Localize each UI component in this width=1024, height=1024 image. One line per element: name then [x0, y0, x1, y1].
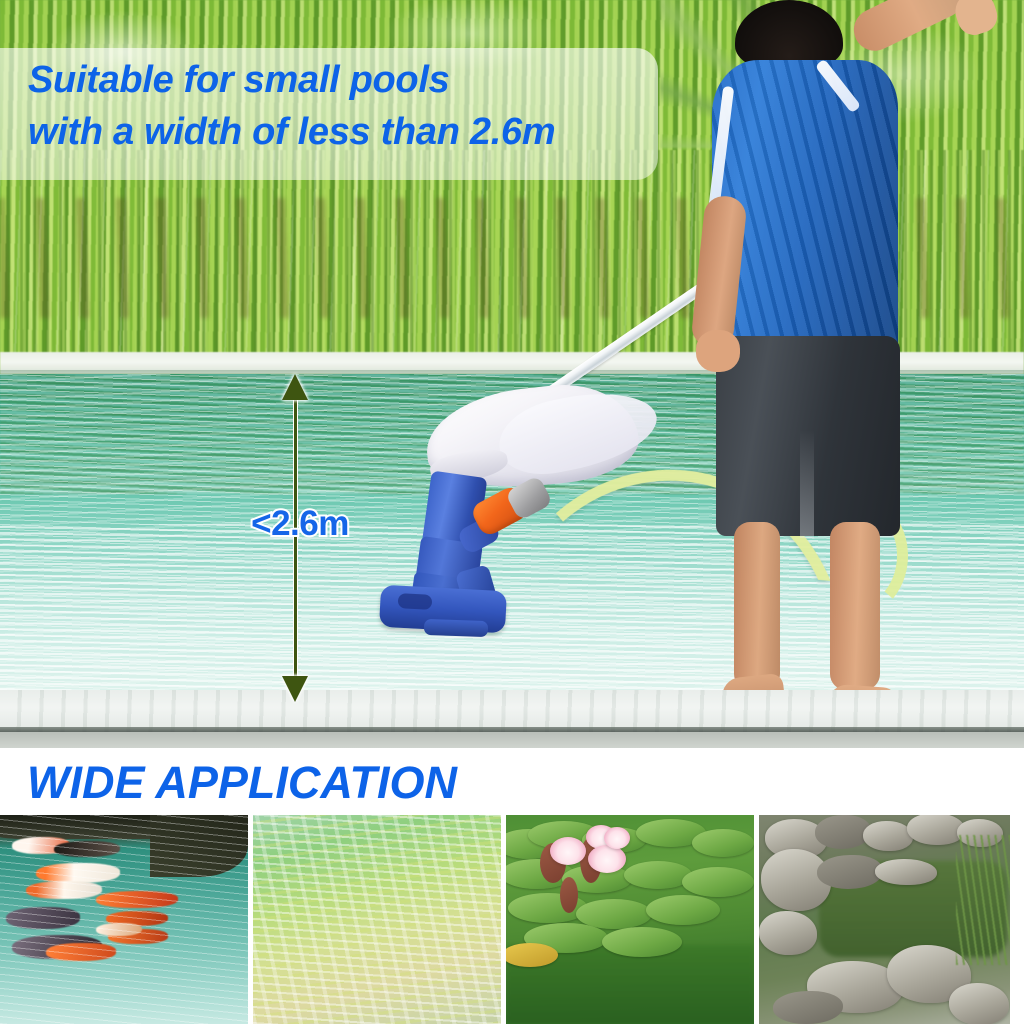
reddish-pad — [560, 877, 578, 913]
lily-pad — [646, 895, 720, 925]
gallery-item-rocky-pond[interactable] — [759, 815, 1010, 1024]
application-gallery — [0, 815, 1024, 1024]
product-marketing-image: <2.6m Suitable for small pools with a wi… — [0, 0, 1024, 1024]
hero-photo: <2.6m Suitable for small pools with a wi… — [0, 0, 1024, 748]
raised-arm — [847, 0, 971, 58]
person-using-product — [660, 0, 960, 748]
water-lily-flower — [550, 837, 586, 865]
stone — [773, 991, 843, 1024]
headline-text: Suitable for small pools with a width of… — [28, 54, 688, 159]
section-title: WIDE APPLICATION — [27, 757, 457, 809]
vacuum-base-slot — [398, 593, 433, 610]
pond-grass — [956, 835, 1010, 965]
stone — [863, 821, 913, 851]
vacuum-base-foot — [424, 619, 489, 637]
width-measurement-annotation: <2.6m — [268, 374, 324, 704]
lower-hand — [696, 330, 740, 372]
water-lily-flower — [588, 845, 626, 873]
pool-vacuum-product — [378, 382, 668, 642]
measurement-label: <2.6m — [240, 498, 360, 550]
right-leg — [830, 522, 880, 690]
stone — [759, 911, 817, 955]
measure-arrow-up-icon — [282, 374, 308, 400]
lily-pad — [692, 829, 754, 857]
measure-arrow-down-icon — [282, 676, 308, 702]
gallery-item-shallow-water[interactable] — [253, 815, 501, 1024]
left-leg — [734, 522, 780, 690]
gallery-item-lily-pond[interactable] — [506, 815, 754, 1024]
lily-pad — [602, 927, 682, 957]
stone — [875, 859, 937, 885]
water-lily-flower — [604, 827, 630, 849]
water-glint-overlay — [253, 815, 501, 1024]
water-ripple-overlay — [0, 815, 248, 1024]
stone — [949, 983, 1009, 1024]
lily-pad — [682, 867, 754, 897]
deck-lower-band — [0, 732, 1024, 748]
gallery-item-koi-pond[interactable] — [0, 815, 248, 1024]
shorts-split — [800, 430, 814, 538]
